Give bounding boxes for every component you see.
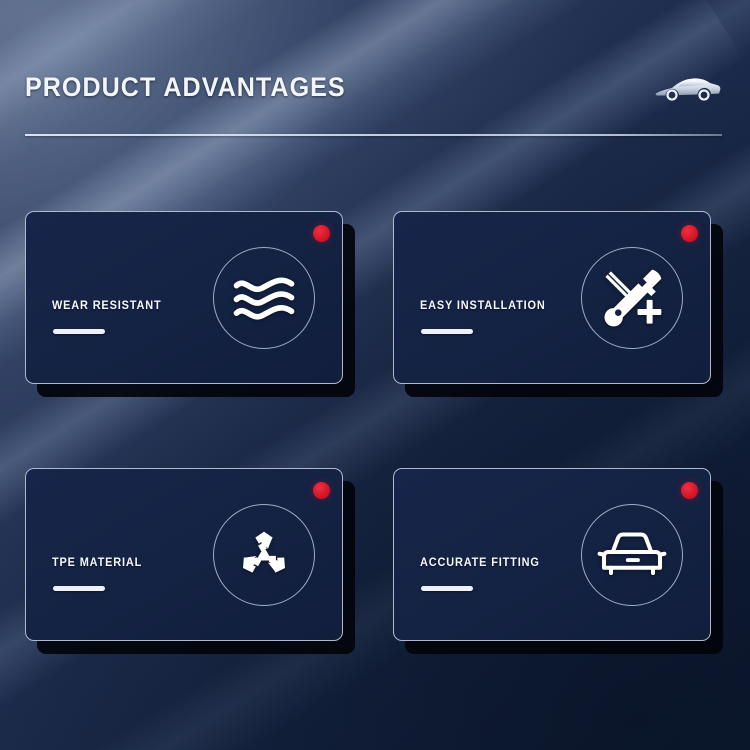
red-dot-indicator: [681, 482, 698, 499]
icon-circle: [213, 247, 315, 349]
page-title: PRODUCT ADVANTAGES: [25, 72, 346, 103]
red-dot-indicator: [313, 225, 330, 242]
red-dot-indicator: [313, 482, 330, 499]
advantage-card-tpe-material[interactable]: TPE MATERIAL: [25, 468, 343, 641]
label-underline: [53, 329, 105, 334]
advantage-card-accurate-fitting[interactable]: ACCURATE FITTING: [393, 468, 711, 641]
sports-car-side-icon: [652, 66, 722, 108]
advantage-label: ACCURATE FITTING: [420, 557, 540, 569]
advantage-label: EASY INSTALLATION: [420, 300, 546, 312]
icon-circle: [581, 247, 683, 349]
wrench-screwdriver-plus-icon: [599, 265, 665, 331]
icon-circle: [581, 504, 683, 606]
label-underline: [421, 586, 473, 591]
car-front-icon: [597, 529, 667, 582]
advantage-card-easy-installation[interactable]: EASY INSTALLATION: [393, 211, 711, 384]
advantage-label: WEAR RESISTANT: [52, 300, 161, 312]
red-dot-indicator: [681, 225, 698, 242]
label-underline: [421, 329, 473, 334]
advantage-card-wear-resistant[interactable]: WEAR RESISTANT: [25, 211, 343, 384]
recycle-icon: [232, 523, 296, 587]
product-advantages-banner: PRODUCT ADVANTAGES WEAR RESISTANT: [0, 0, 750, 750]
label-underline: [53, 586, 105, 591]
waves-icon: [231, 271, 297, 326]
advantage-label: TPE MATERIAL: [52, 557, 142, 569]
header-divider: [25, 134, 722, 136]
icon-circle: [213, 504, 315, 606]
